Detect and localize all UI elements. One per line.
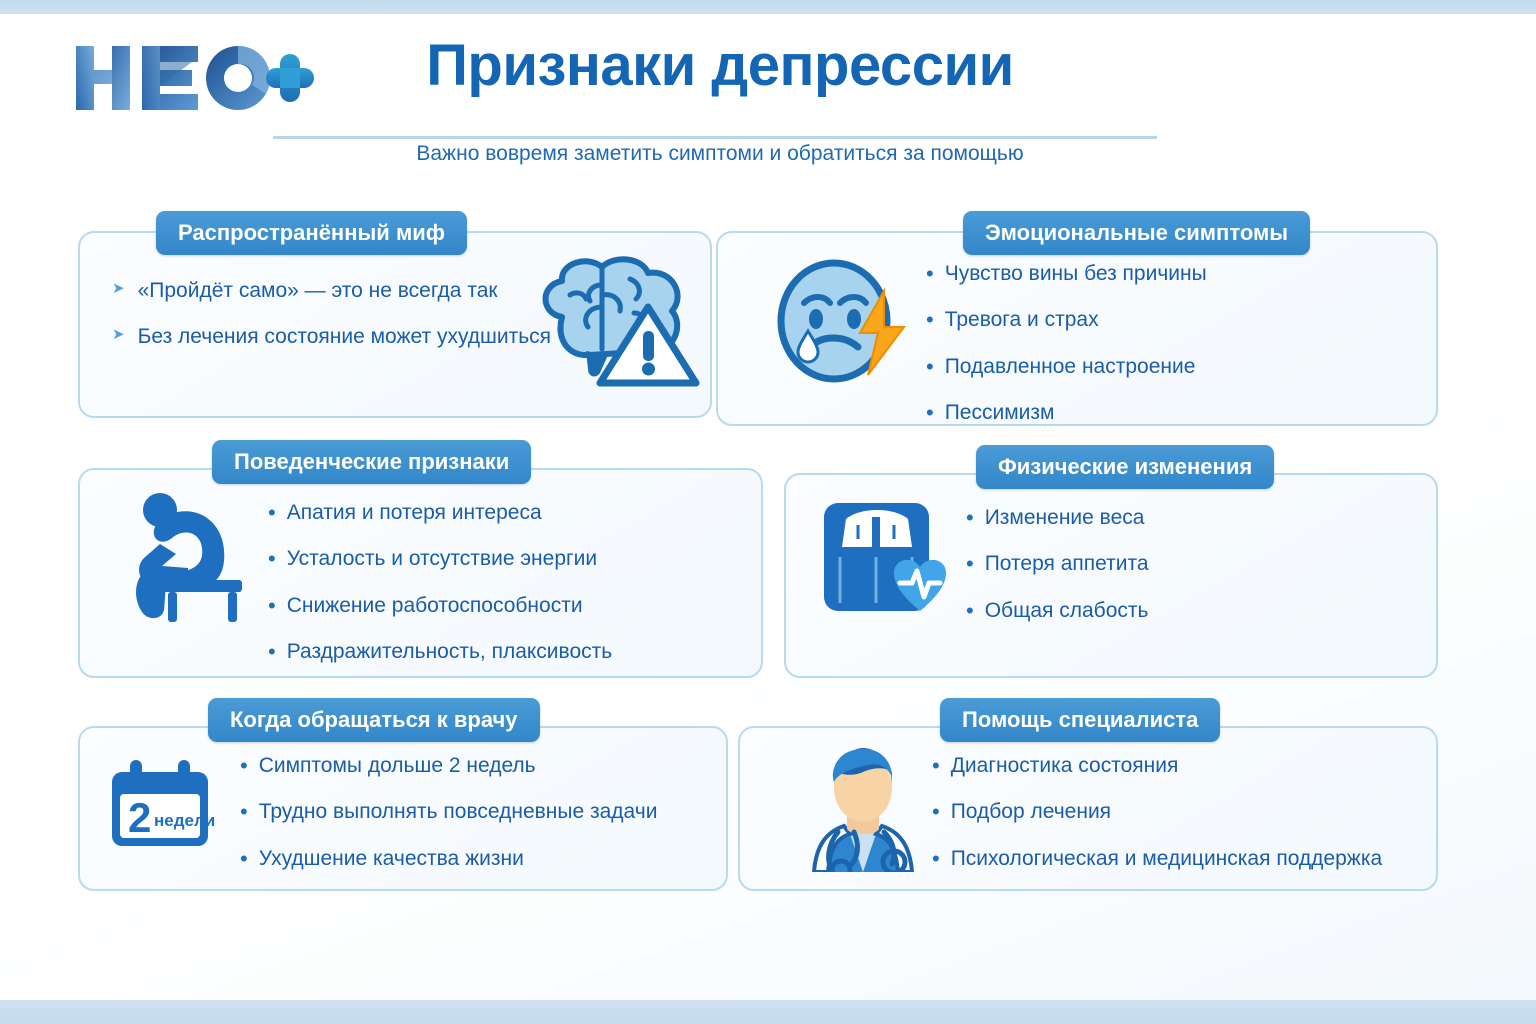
list-item: ➤ «Пройдёт само» — это не всегда так — [112, 278, 551, 304]
card-behavioral-signs: • Апатия и потеря интереса • Усталость и… — [78, 468, 763, 678]
card-physical-changes: • Изменение веса • Потеря аппетита • Общ… — [784, 473, 1438, 678]
page-title: Признаки депрессии — [270, 36, 1170, 97]
badge-behavioral-signs: Поведенческие признаки — [212, 440, 531, 484]
list-item-text: Снижение работоспособности — [287, 593, 583, 619]
dot-bullet-icon: • — [926, 400, 934, 425]
list-item: • Пессимизм — [926, 400, 1207, 426]
card-physical-list: • Изменение веса • Потеря аппетита • Общ… — [966, 505, 1149, 624]
list-item-text: Изменение веса — [985, 505, 1145, 531]
top-decorative-band — [0, 0, 1536, 14]
list-item-text: «Пройдёт само» — это не всегда так — [138, 278, 498, 304]
list-item-text: Психологическая и медицинская поддержка — [951, 846, 1382, 872]
list-item: • Снижение работоспособности — [268, 593, 612, 619]
list-item: • Симптомы дольше 2 недель — [240, 753, 657, 779]
list-item-text: Общая слабость — [985, 598, 1149, 624]
list-item-text: Апатия и потеря интереса — [287, 500, 542, 526]
list-item-text: Симптомы дольше 2 недель — [259, 753, 536, 779]
list-item-text: Без лечения состояние может ухудшиться — [138, 324, 551, 350]
dot-bullet-icon: • — [966, 598, 974, 623]
list-item: • Апатия и потеря интереса — [268, 500, 612, 526]
dot-bullet-icon: • — [926, 307, 934, 332]
dot-bullet-icon: • — [932, 846, 940, 871]
list-item: • Усталость и отсутствие энергии — [268, 546, 612, 572]
card-emotional-symptoms: • Чувство вины без причины • Тревога и с… — [716, 231, 1438, 426]
list-item-text: Потеря аппетита — [985, 551, 1149, 577]
dot-bullet-icon: • — [240, 799, 248, 824]
dot-bullet-icon: • — [966, 505, 974, 530]
badge-common-myth: Распространённый миф — [156, 211, 467, 255]
list-item-text: Чувство вины без причины — [945, 261, 1207, 287]
list-item: • Изменение веса — [966, 505, 1149, 531]
list-item: • Чувство вины без причины — [926, 261, 1207, 287]
list-item-text: Трудно выполнять повседневные задачи — [259, 799, 658, 825]
badge-emotional-symptoms: Эмоциональные симптомы — [963, 211, 1310, 255]
list-item: • Ухудшение качества жизни — [240, 846, 657, 872]
dot-bullet-icon: • — [926, 261, 934, 286]
brain-warning-icon — [530, 251, 705, 396]
list-item: • Трудно выполнять повседневные задачи — [240, 799, 657, 825]
dot-bullet-icon: • — [240, 753, 248, 778]
arrow-bullet-icon: ➤ — [112, 278, 125, 301]
list-item: • Тревога и страх — [926, 307, 1207, 333]
doctor-icon — [792, 742, 934, 877]
dot-bullet-icon: • — [268, 500, 276, 525]
list-item-text: Подавленное настроение — [945, 354, 1196, 380]
list-item: • Подбор лечения — [932, 799, 1382, 825]
calendar-number: 2 — [128, 794, 151, 841]
dot-bullet-icon: • — [966, 551, 974, 576]
card-behavioral-list: • Апатия и потеря интереса • Усталость и… — [268, 500, 612, 665]
dot-bullet-icon: • — [932, 753, 940, 778]
dot-bullet-icon: • — [268, 593, 276, 618]
dot-bullet-icon: • — [240, 846, 248, 871]
list-item-text: Диагностика состояния — [951, 753, 1179, 779]
list-item: • Потеря аппетита — [966, 551, 1149, 577]
dot-bullet-icon: • — [268, 546, 276, 571]
card-specialist-help: • Диагностика состояния • Подбор лечения… — [738, 726, 1438, 891]
list-item: ➤ Без лечения состояние может ухудшиться — [112, 324, 551, 350]
list-item: • Общая слабость — [966, 598, 1149, 624]
sitting-person-icon — [132, 488, 260, 628]
list-item-text: Усталость и отсутствие энергии — [287, 546, 597, 572]
calendar-two-weeks-icon: 2 недели — [104, 754, 216, 859]
page-subtitle: Важно вовремя заметить симптоми и обрати… — [270, 142, 1170, 166]
page-header: Признаки депрессии Важно вовремя заметит… — [0, 14, 1536, 174]
title-divider — [273, 136, 1157, 139]
card-common-myth: ➤ «Пройдёт само» — это не всегда так ➤ Б… — [78, 231, 712, 418]
sad-face-lightning-icon — [774, 255, 909, 392]
card-myth-list: ➤ «Пройдёт само» — это не всегда так ➤ Б… — [112, 278, 551, 351]
list-item-text: Раздражительность, плаксивость — [287, 639, 613, 665]
dot-bullet-icon: • — [932, 799, 940, 824]
list-item: • Подавленное настроение — [926, 354, 1207, 380]
card-when-to-see-doctor: 2 недели • Симптомы дольше 2 недель • Тр… — [78, 726, 728, 891]
list-item: • Психологическая и медицинская поддержк… — [932, 846, 1382, 872]
badge-when-to-see-doctor: Когда обращаться к врачу — [208, 698, 540, 742]
list-item-text: Пессимизм — [945, 400, 1055, 426]
card-specialist-list: • Диагностика состояния • Подбор лечения… — [932, 753, 1382, 872]
list-item-text: Ухудшение качества жизни — [259, 846, 524, 872]
dot-bullet-icon: • — [926, 354, 934, 379]
badge-specialist-help: Помощь специалиста — [940, 698, 1220, 742]
weight-scale-heart-icon — [816, 495, 956, 630]
list-item-text: Тревога и страх — [945, 307, 1099, 333]
calendar-unit: недели — [154, 811, 215, 830]
dot-bullet-icon: • — [268, 639, 276, 664]
bottom-decorative-band — [0, 1000, 1536, 1024]
card-doctor-timing-list: • Симптомы дольше 2 недель • Трудно выпо… — [240, 753, 657, 872]
list-item: • Диагностика состояния — [932, 753, 1382, 779]
list-item-text: Подбор лечения — [951, 799, 1111, 825]
list-item: • Раздражительность, плаксивость — [268, 639, 612, 665]
arrow-bullet-icon: ➤ — [112, 324, 125, 347]
badge-physical-changes: Физические изменения — [976, 445, 1274, 489]
card-emotional-list: • Чувство вины без причины • Тревога и с… — [926, 261, 1207, 426]
